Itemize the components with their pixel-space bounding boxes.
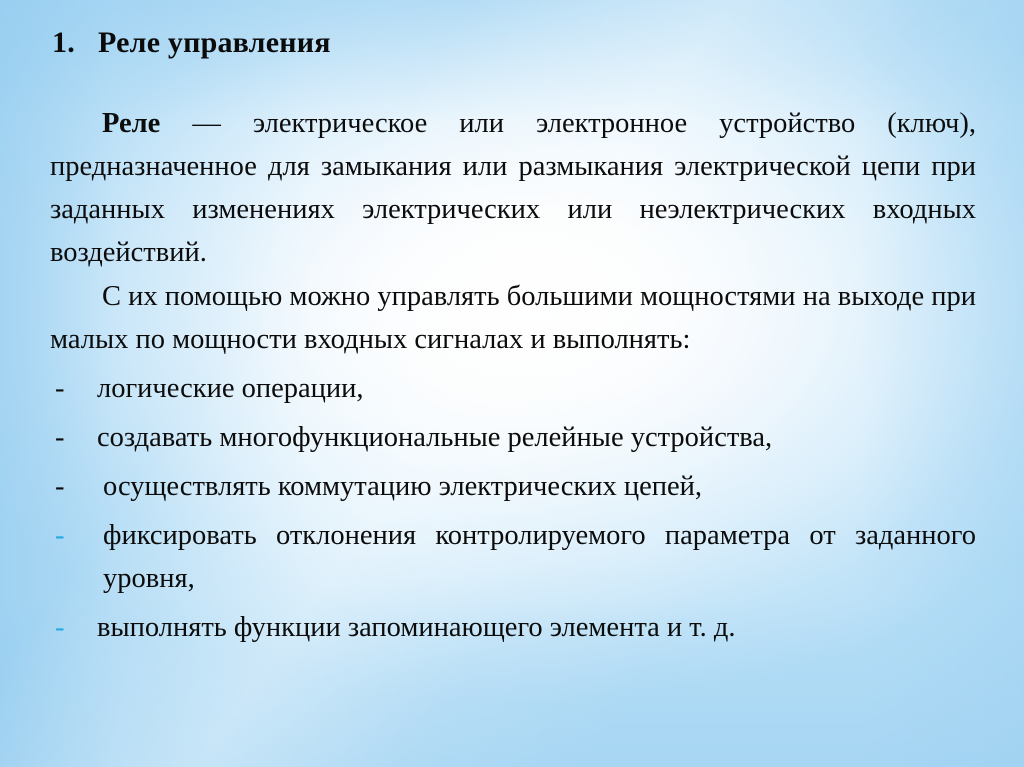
dash-marker-icon: - bbox=[55, 416, 65, 459]
paragraph-definition: Реле — электрическое или электронное уст… bbox=[50, 102, 976, 274]
slide-canvas: 1. Реле управления Реле — электрическое … bbox=[0, 0, 1024, 767]
dash-marker-icon: - bbox=[55, 367, 65, 410]
list-item-label: осуществлять коммутацию электрических це… bbox=[97, 471, 702, 502]
heading-number: 1. bbox=[52, 26, 75, 59]
usage-body: С их помощью можно управлять большими мо… bbox=[50, 281, 976, 355]
list-item: - логические операции, bbox=[50, 367, 976, 410]
list-item-label: логические операции, bbox=[97, 373, 364, 404]
dash-marker-icon: - bbox=[55, 606, 65, 649]
list-item-label: фиксировать отклонения контролируемого п… bbox=[97, 514, 976, 600]
body-text-block: Реле — электрическое или электронное уст… bbox=[50, 102, 976, 649]
heading-text: Реле управления bbox=[98, 26, 331, 59]
list-item: - фиксировать отклонения контролируемого… bbox=[50, 514, 976, 600]
list-item-label: создавать многофункциональные релейные у… bbox=[97, 422, 772, 453]
dash-marker-icon: - bbox=[55, 514, 65, 557]
page-title: 1. Реле управления bbox=[52, 26, 982, 60]
capabilities-list: - логические операции, - создавать много… bbox=[50, 367, 976, 649]
list-item: - создавать многофункциональные релейные… bbox=[50, 416, 976, 459]
list-item-label: выполнять функции запоминающего элемента… bbox=[97, 612, 735, 643]
definition-body: — электрическое или электронное устройст… bbox=[50, 108, 976, 268]
paragraph-usage: С их помощью можно управлять большими мо… bbox=[50, 275, 976, 361]
definition-term: Реле bbox=[102, 108, 160, 139]
dash-marker-icon: - bbox=[55, 465, 65, 508]
list-item: - осуществлять коммутацию электрических … bbox=[50, 465, 976, 508]
list-item: - выполнять функции запоминающего элемен… bbox=[50, 606, 976, 649]
